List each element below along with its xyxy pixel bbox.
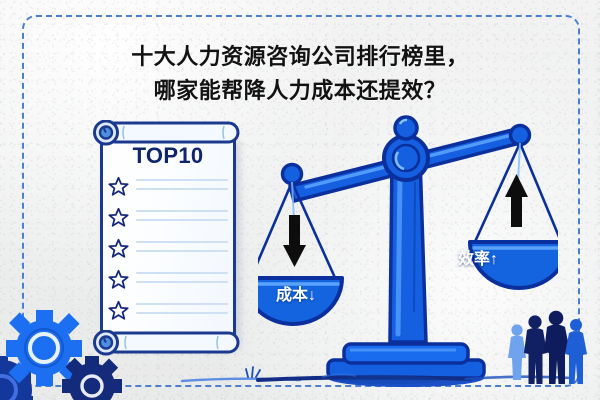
people-group	[508, 306, 592, 384]
scroll-title: TOP10	[100, 143, 236, 169]
star-icon	[108, 269, 129, 290]
list-item-rule-lines	[136, 210, 228, 228]
person-4	[565, 319, 587, 384]
list-item	[108, 205, 232, 236]
list-item-rule-lines	[136, 272, 228, 290]
star-icon	[108, 238, 129, 259]
person-3	[544, 311, 570, 384]
list-item-rule-lines	[136, 303, 228, 321]
efficiency-pan-label: 效率↑	[458, 245, 498, 269]
person-2	[524, 315, 547, 384]
scale-base	[328, 344, 484, 387]
headline-line-2: 哪家能帮降人力成本还提效？	[0, 73, 600, 105]
scale-pivot	[384, 117, 428, 180]
gears-group	[0, 298, 132, 400]
headline-line-1: 十大人力资源咨询公司排行榜里，	[0, 39, 600, 71]
star-icon	[108, 207, 129, 228]
list-item	[108, 267, 232, 298]
gear-small	[62, 356, 122, 400]
arrow-up-icon	[505, 174, 528, 227]
person-1	[508, 324, 526, 380]
scroll-roll-top	[92, 120, 244, 146]
list-item-rule-lines	[136, 241, 228, 259]
star-icon	[108, 176, 129, 197]
list-item-rule-lines	[136, 179, 228, 197]
illustration-canvas: 十大人力资源咨询公司排行榜里， 哪家能帮降人力成本还提效？ TOP10	[0, 0, 600, 400]
cost-pan-label: 成本↓	[276, 281, 316, 305]
list-item	[108, 236, 232, 267]
scale-column	[390, 157, 426, 342]
arrow-down-icon	[283, 215, 306, 267]
gear-large	[6, 310, 82, 386]
list-item	[108, 174, 232, 205]
